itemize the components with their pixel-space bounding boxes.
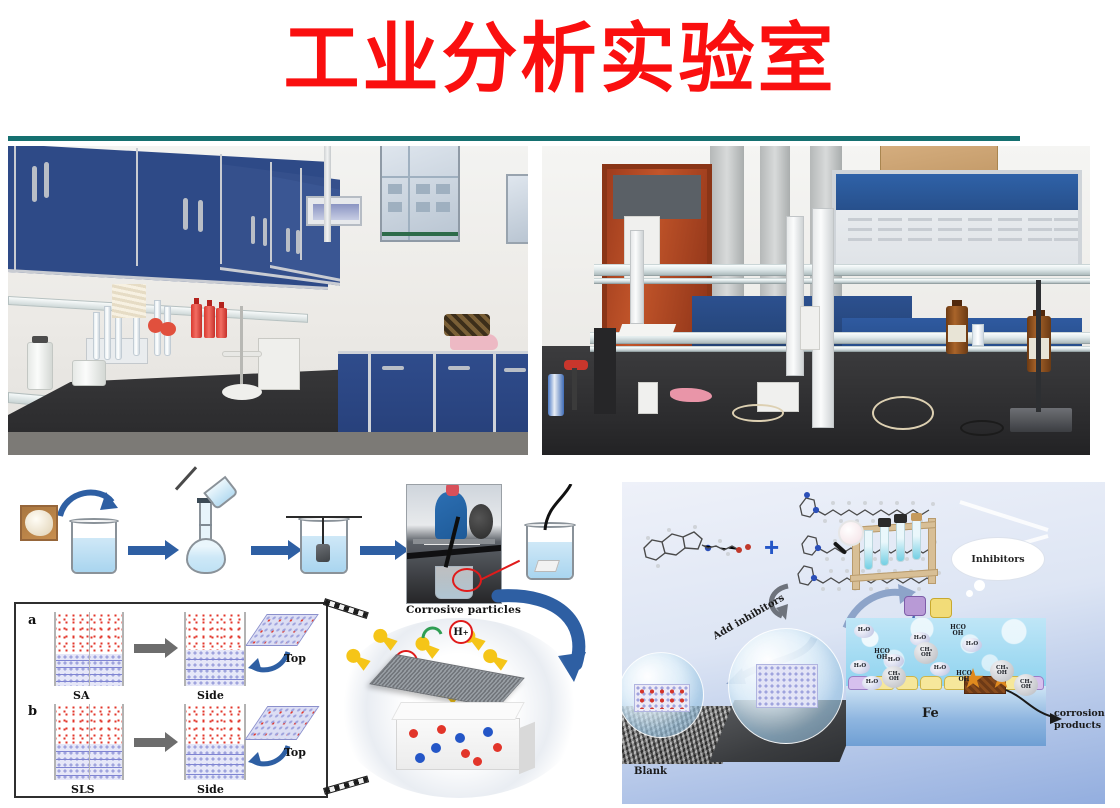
md-label-sa: SA	[73, 689, 89, 702]
photo-cabinet-handle	[251, 216, 255, 244]
photo-shelf-post	[786, 216, 804, 376]
photo-pink-cloth	[670, 388, 712, 402]
photo-glass-rail	[594, 264, 1090, 276]
title-divider	[8, 136, 1020, 141]
corroded-lattice	[634, 684, 690, 712]
corrosive-particles-label: Corrosive particles	[406, 604, 521, 616]
species-water: H₂O	[862, 676, 882, 690]
beaker-dissolve-icon	[71, 522, 117, 574]
md-cell-sls-side	[184, 704, 246, 780]
photo-lower-cabinets	[338, 351, 528, 441]
photo-analytical-balance	[258, 338, 300, 390]
photo-instrument-box	[800, 306, 820, 350]
photo-glass-rail	[594, 278, 1090, 284]
workflow-arrow-3	[360, 546, 396, 555]
md-cell-sls-start	[54, 704, 124, 780]
corrosion-products-line-1: corrosion	[1054, 708, 1105, 720]
species-water: H₂O	[962, 638, 982, 652]
md-simulation-inset: a SA Side Top b	[14, 602, 328, 798]
md-label-side-b: Side	[197, 783, 224, 796]
blank-label: Blank	[634, 766, 667, 777]
species-organic-hco: HCO OH	[870, 646, 894, 664]
md-arrow-b	[134, 738, 166, 747]
hydrogen-ion-badge: H+	[449, 620, 473, 644]
species-water: H₂O	[930, 662, 950, 676]
powder-sample-icon	[20, 505, 58, 541]
photo-cabinet-handle	[32, 166, 37, 202]
photo-stand-base	[1010, 408, 1072, 432]
species-hco-line2: OH	[953, 631, 964, 637]
md-cell-sa-side	[184, 612, 246, 686]
md-label-top-a: Top	[284, 652, 306, 665]
photo-balance-base	[222, 384, 262, 400]
photo-eyewash-post	[572, 368, 577, 410]
photo-cabinet-handle	[263, 218, 267, 246]
photo-laboratory-bench-room	[8, 146, 528, 455]
panel-tag-b: b	[28, 704, 37, 719]
species-organic-ch3: CH₃ OH	[882, 666, 906, 688]
photo-brown-reagent-bottle	[946, 306, 968, 354]
species-water-text: H₂O	[914, 636, 926, 642]
photo-laboratory-fume-hood-room	[542, 146, 1090, 455]
magnifier-icon	[838, 520, 884, 560]
thought-bubble-dot	[966, 590, 973, 597]
species-organic-ch3: CH₃ OH	[914, 642, 938, 664]
species-water-text: H₂O	[858, 628, 870, 634]
workflow-arrow-1	[128, 546, 166, 555]
photo-test-tube	[104, 306, 111, 360]
reaction-curve-arrow-green	[420, 622, 444, 642]
photo-storage-jar	[27, 342, 53, 390]
species-hco-line2: OH	[877, 655, 888, 661]
panel-tag-a: a	[28, 613, 36, 628]
photo-tubing-coil	[732, 404, 784, 422]
species-hco-line2: OH	[959, 677, 970, 683]
adsorbed-film-unit	[920, 676, 942, 690]
md-top-view-b	[245, 706, 320, 740]
specimen-hanger-wire	[322, 518, 324, 546]
photo-test-tube	[93, 312, 100, 360]
photo-clear-bottle	[972, 324, 984, 346]
photo-window	[380, 146, 460, 242]
species-organic-ch3: CH₃ OH	[1014, 674, 1038, 696]
species-organic-hco: HCO OH	[946, 622, 970, 640]
test-tube-stopper	[911, 513, 922, 521]
inhibitors-thought-bubble: Inhibitors	[952, 538, 1044, 580]
photo-cabinet-handle	[286, 228, 290, 252]
photo-tubing-coil	[872, 396, 934, 430]
corrosion-products-line-2: products	[1054, 720, 1105, 732]
photo-cabinet-handle	[296, 230, 300, 254]
photo-pipette-bulb	[160, 322, 176, 336]
inhibitor-cylinder-yellow	[930, 598, 952, 618]
md-arrow-a	[134, 644, 166, 653]
photo-zoom-highlight-circle	[452, 568, 482, 592]
photo-storage-jar	[72, 360, 106, 386]
inhibitor-cylinder-purple	[904, 596, 926, 616]
photo-cabinet-seam	[14, 146, 16, 270]
species-water: H₂O	[854, 624, 874, 638]
photo-window-right	[506, 174, 528, 244]
photo-spray-bottle	[548, 374, 564, 416]
figure-inhibitor-adsorption-mechanism: +	[622, 482, 1105, 804]
species-water-text: H₂O	[966, 642, 978, 648]
md-cell-sa-start	[54, 612, 124, 686]
thought-bubble-dot	[974, 580, 985, 591]
photo-cabinet-handle	[198, 200, 203, 232]
species-organic-ch3: CH₃ OH	[990, 660, 1014, 682]
species-water-text: H₂O	[854, 664, 866, 670]
photo-wall-panel	[306, 196, 362, 226]
photo-cloth	[450, 334, 498, 350]
molecule-reactant-left	[638, 524, 760, 574]
md-top-view-a	[245, 614, 319, 646]
photo-pipette-bundle	[112, 284, 146, 318]
hydrogen-ion-text: H	[453, 627, 462, 638]
photo-shelf-post	[630, 230, 644, 324]
specimen-coupon-flat	[534, 560, 560, 572]
photo-glass-rail	[590, 346, 1090, 352]
species-ch3-line2: OH	[1021, 685, 1031, 691]
md-label-side-a: Side	[197, 689, 224, 702]
page-title: 工业分析实验室	[0, 14, 1120, 104]
figure-sample-preparation-workflow: a SA Side Top b	[8, 476, 614, 802]
species-ch3-line2: OH	[889, 677, 899, 683]
substrate-label: Fe	[922, 706, 939, 721]
test-tube	[896, 522, 905, 562]
species-organic-hco: HCO OH	[952, 668, 976, 686]
photo-fume-hood	[832, 170, 1082, 274]
photo-cabinet-handle	[44, 162, 49, 198]
species-ch3-line2: OH	[921, 653, 931, 659]
corrosion-products-label: corrosion products	[1054, 708, 1105, 732]
reaction-plus-sign: +	[764, 534, 779, 560]
powder-to-beaker-arrow	[56, 482, 122, 522]
photo-wall-pipe	[324, 146, 331, 242]
photo-cabinet-seam	[136, 148, 138, 266]
species-water-text: H₂O	[866, 680, 878, 686]
species-ch3-line2: OH	[997, 671, 1007, 677]
inset-connector-chain-top	[323, 598, 369, 619]
photo-bag	[444, 314, 490, 336]
volumetric-flask-icon	[178, 494, 238, 576]
test-tube	[912, 520, 921, 560]
workflow-arrow-2	[251, 546, 289, 555]
photo-paper-sheet	[618, 324, 676, 336]
photo-black-stand	[594, 328, 616, 414]
inhibitors-label: Inhibitors	[971, 554, 1024, 565]
photo-power-strip	[638, 382, 658, 414]
specimen-probe-wire	[533, 484, 575, 532]
specimen-coupon	[316, 544, 330, 562]
inset-connector-chain-bottom	[323, 775, 369, 794]
photo-reagent-bottle	[216, 308, 227, 338]
photo-reagent-bottle	[204, 306, 215, 338]
species-water: H₂O	[850, 660, 870, 674]
photo-cabinet-seam	[300, 168, 302, 260]
photo-cabinet-handle	[183, 198, 188, 230]
specimen-hanger-bar	[286, 516, 362, 518]
substrate-block	[396, 718, 520, 770]
md-label-sls: SLS	[71, 783, 95, 796]
photo-cabinet-seam	[270, 162, 272, 262]
photo-power-cable	[960, 420, 1004, 436]
substrate-block-top	[391, 702, 525, 720]
ordered-lattice	[756, 664, 818, 708]
photo-floor	[8, 432, 528, 455]
species-water-text: H₂O	[934, 666, 946, 672]
photo-cabinet-seam	[220, 154, 222, 264]
photo-stand-rod	[1036, 280, 1041, 412]
photo-reagent-bottle	[191, 304, 202, 338]
photo-balance-post	[240, 306, 243, 384]
md-label-top-b: Top	[284, 746, 306, 759]
test-tube-stopper	[894, 514, 907, 523]
